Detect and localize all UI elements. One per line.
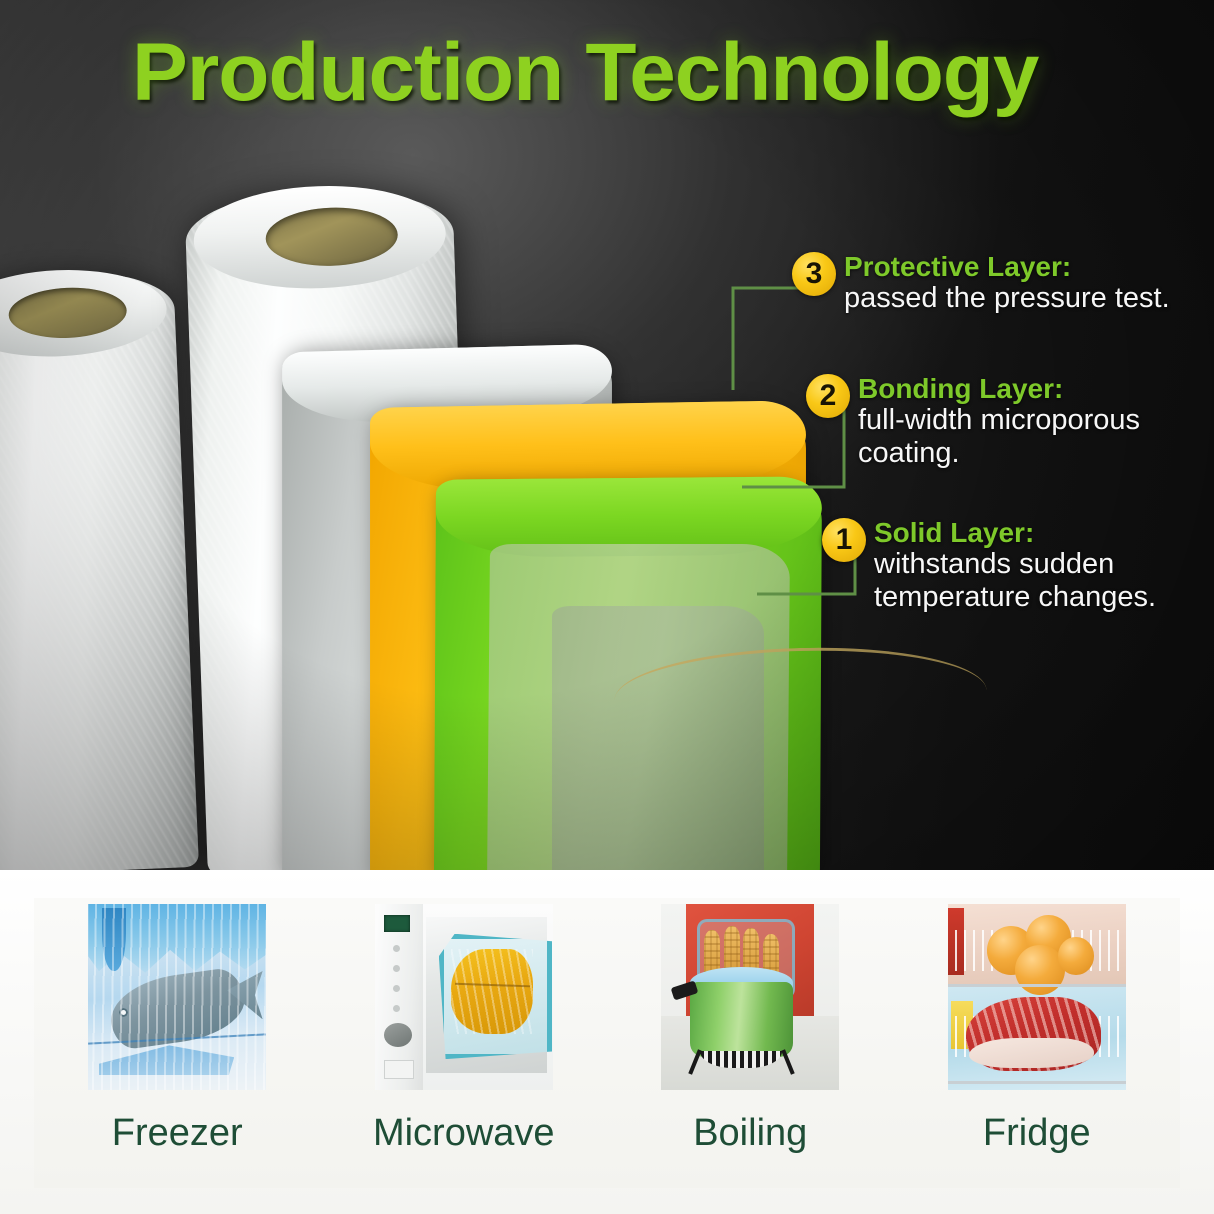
callout-text-1: Solid Layer: withstands sudden temperatu… [874, 518, 1214, 614]
vacuum-sealer-roll-back [0, 267, 199, 870]
callout-body-2: full-width microporous coating. [858, 404, 1214, 470]
use-case-label-boiling: Boiling [693, 1112, 807, 1155]
use-case-label-freezer: Freezer [112, 1112, 243, 1155]
product-infographic: Production Technology 3 Protective Layer… [0, 0, 1214, 1214]
callout-body-3: passed the pressure test. [844, 282, 1170, 315]
hero-photo-section: Production Technology 3 Protective Layer… [0, 0, 1214, 870]
use-case-fridge: Fridge [912, 904, 1162, 1155]
callout-solid-layer: 1 Solid Layer: withstands sudden tempera… [822, 518, 1214, 614]
callout-text-3: Protective Layer: passed the pressure te… [844, 252, 1170, 315]
page-title: Production Technology [132, 26, 1038, 120]
callout-number-badge-3: 3 [792, 252, 836, 296]
callout-number-badge-1: 1 [822, 518, 866, 562]
roll-front-cardboard-core [265, 205, 399, 268]
use-case-label-microwave: Microwave [373, 1112, 555, 1155]
callout-heading-1: Solid Layer: [874, 519, 1214, 548]
use-case-boiling: Boiling [625, 904, 875, 1155]
use-case-label-fridge: Fridge [983, 1112, 1091, 1155]
use-cases-section: Freezer [0, 870, 1214, 1214]
callout-bonding-layer: 2 Bonding Layer: full-width microporous … [806, 374, 1214, 470]
frozen-fish-in-vacuum-bag-icon [88, 904, 266, 1090]
roll-emboss-texture [0, 267, 199, 870]
pot-boiling-corn-icon [661, 904, 839, 1090]
use-case-microwave: Microwave [339, 904, 589, 1155]
microwave-with-sealed-food-icon [375, 904, 553, 1090]
callout-heading-2: Bonding Layer: [858, 375, 1214, 404]
callout-text-2: Bonding Layer: full-width microporous co… [858, 374, 1214, 470]
translucent-inner-layer-b [552, 606, 764, 870]
use-cases-card: Freezer [34, 898, 1180, 1188]
callout-heading-3: Protective Layer: [844, 253, 1170, 282]
callout-body-1: withstands sudden temperature changes. [874, 548, 1214, 614]
use-case-freezer: Freezer [52, 904, 302, 1155]
roll-back-cardboard-core [8, 285, 128, 340]
callout-number-badge-2: 2 [806, 374, 850, 418]
callout-protective-layer: 3 Protective Layer: passed the pressure … [792, 252, 1170, 315]
fridge-shelves-food-icon [948, 904, 1126, 1090]
